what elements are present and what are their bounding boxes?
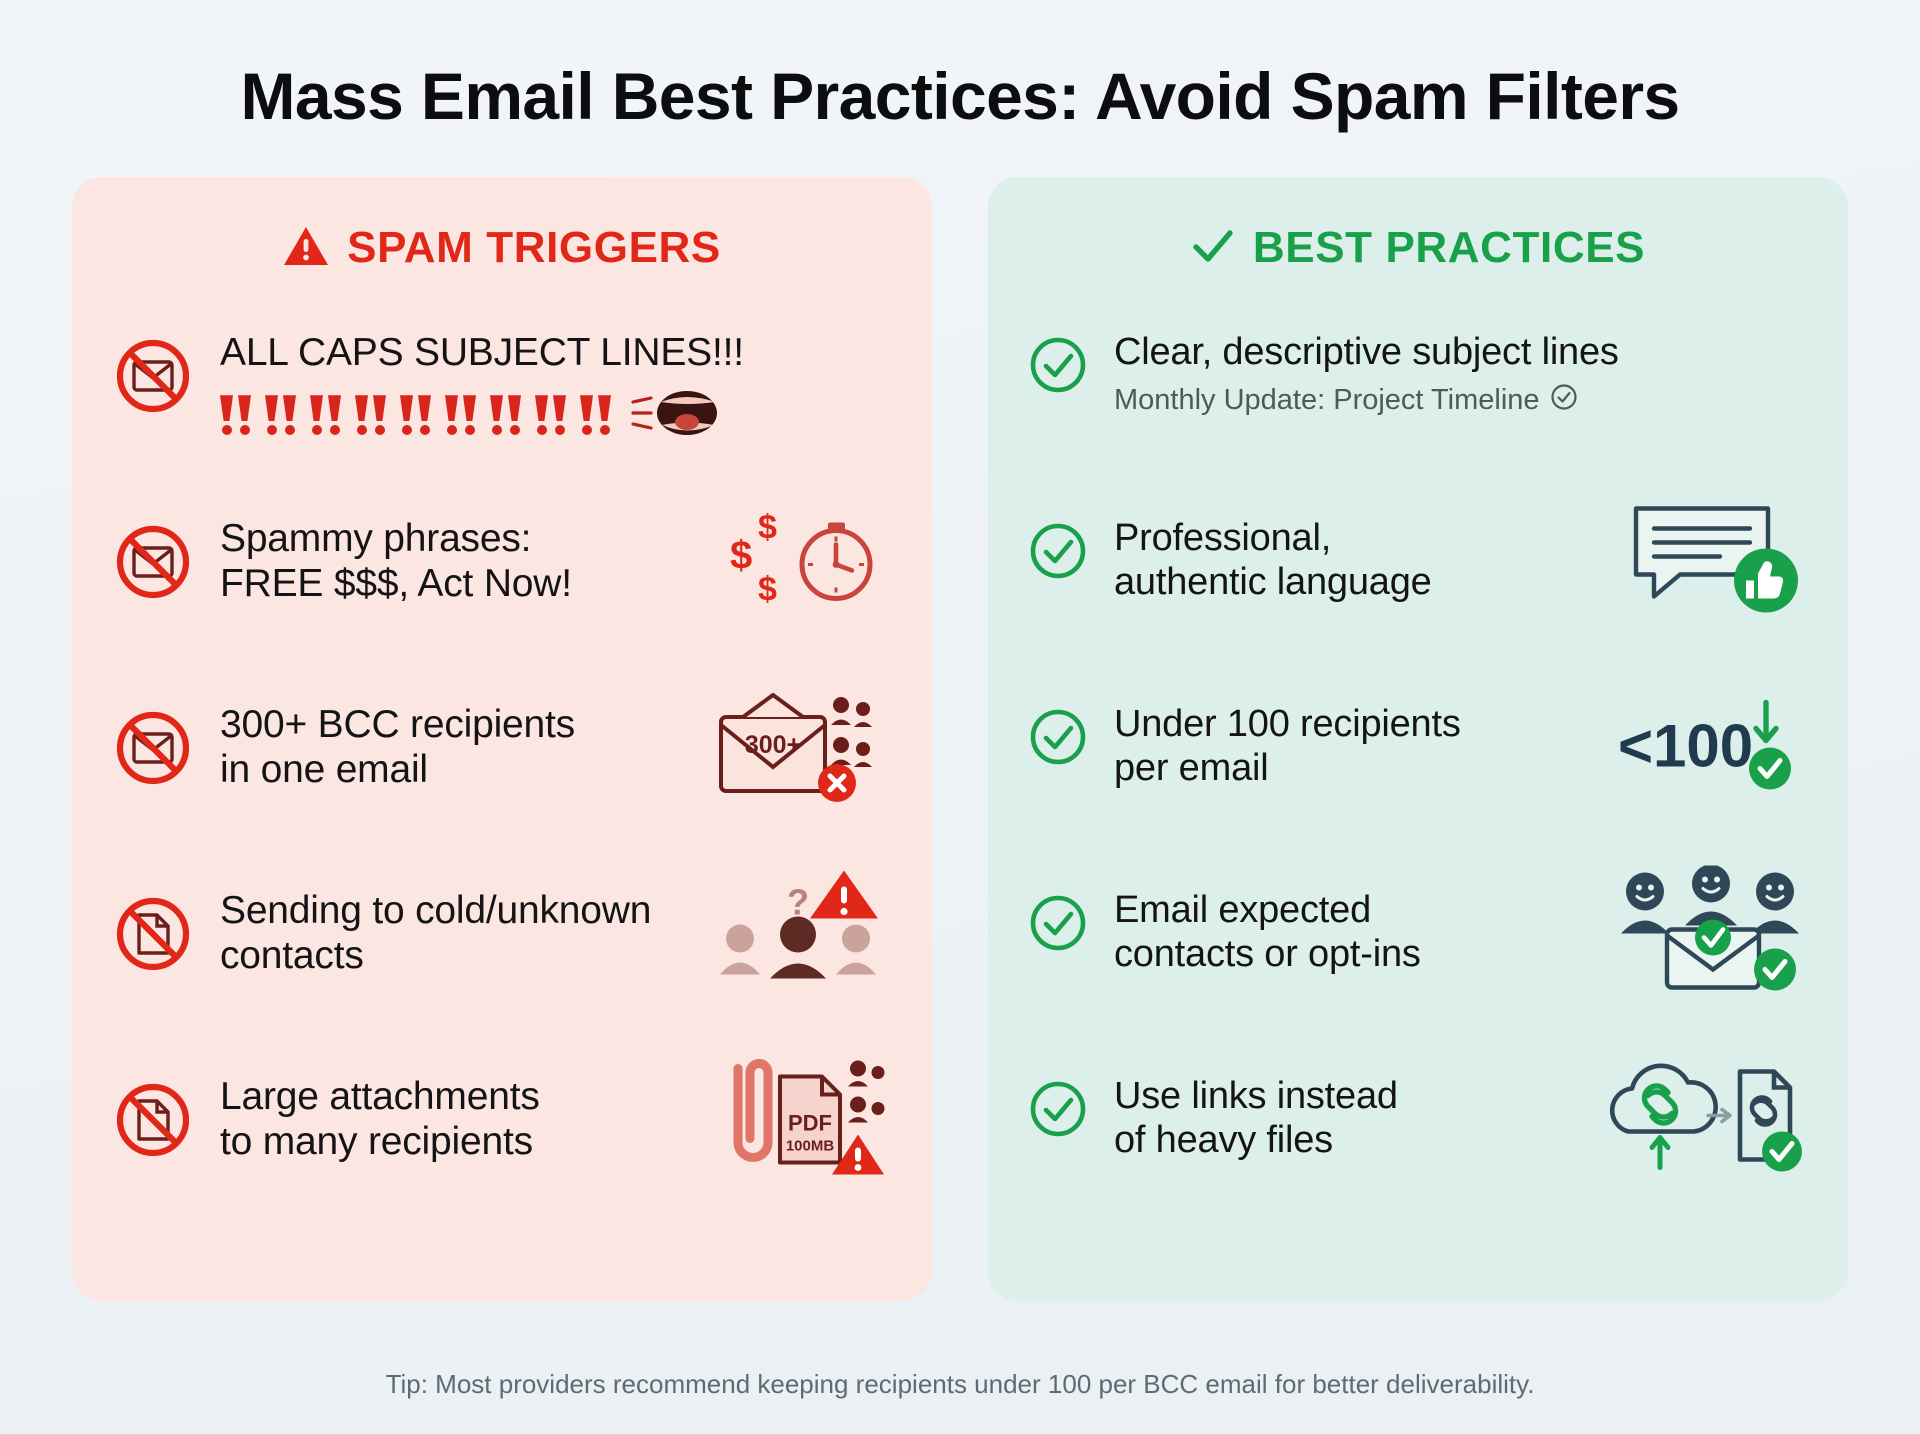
list-item-line1: Use links instead xyxy=(1114,1075,1808,1118)
list-item-line1: 300+ BCC recipients xyxy=(220,703,892,747)
spam-triggers-list: ALL CAPS SUBJECT LINES!!! xyxy=(112,331,892,1261)
list-item-line2: of heavy files xyxy=(1114,1119,1808,1162)
list-item-line1: Large attachments xyxy=(220,1075,892,1119)
list-item-text: Under 100 recipients per email <100 xyxy=(1114,703,1808,790)
check-circle-small-icon xyxy=(1550,383,1578,419)
best-practices-panel: BEST PRACTICES Clear, descriptive subjec… xyxy=(988,177,1848,1301)
check-circle-icon xyxy=(1028,1079,1088,1144)
exclamation-marks-row xyxy=(220,386,892,445)
check-circle-icon xyxy=(1028,893,1088,958)
list-item-text: Clear, descriptive subject lines Monthly… xyxy=(1114,331,1808,418)
tip-text: Tip: Most providers recommend keeping re… xyxy=(0,1369,1920,1400)
list-item: 300+ BCC recipients in one email 300+ xyxy=(112,703,892,889)
list-item-line1: Sending to cold/unknown xyxy=(220,889,892,933)
list-item-text: Sending to cold/unknown contacts ? xyxy=(220,889,892,978)
no-email-icon xyxy=(112,335,194,422)
list-item-line2: contacts or opt-ins xyxy=(1114,933,1808,976)
infographic-page: Mass Email Best Practices: Avoid Spam Fi… xyxy=(0,0,1920,1434)
list-item-line2: authentic language xyxy=(1114,561,1808,604)
list-item: Spammy phrases: FREE $$$, Act Now! $ $ $ xyxy=(112,517,892,703)
list-item: Clear, descriptive subject lines Monthly… xyxy=(1028,331,1808,517)
list-item: Email expected contacts or opt-ins xyxy=(1028,889,1808,1075)
page-title: Mass Email Best Practices: Avoid Spam Fi… xyxy=(0,0,1920,131)
spam-triggers-label: SPAM TRIGGERS xyxy=(347,223,721,273)
panels-container: SPAM TRIGGERS ALL CAPS SUBJECT LINE xyxy=(0,131,1920,1301)
list-item: Sending to cold/unknown contacts ? xyxy=(112,889,892,1075)
spam-triggers-panel: SPAM TRIGGERS ALL CAPS SUBJECT LINE xyxy=(72,177,932,1301)
list-item-line2: FREE $$$, Act Now! xyxy=(220,562,892,606)
list-item-line1: ALL CAPS SUBJECT LINES!!! xyxy=(220,331,892,375)
list-item-text: Large attachments to many recipients PDF… xyxy=(220,1075,892,1164)
no-email-icon xyxy=(112,707,194,794)
list-item-line1: Under 100 recipients xyxy=(1114,703,1808,746)
best-practices-list: Clear, descriptive subject lines Monthly… xyxy=(1028,331,1808,1261)
list-item-line1: Clear, descriptive subject lines xyxy=(1114,331,1808,374)
list-item-text: Use links instead of heavy files xyxy=(1114,1075,1808,1162)
list-item: Use links instead of heavy files xyxy=(1028,1075,1808,1261)
warning-triangle-icon xyxy=(283,225,329,272)
list-item: Large attachments to many recipients PDF… xyxy=(112,1075,892,1261)
shouting-mouth-icon xyxy=(631,386,721,445)
list-item-line2: to many recipients xyxy=(220,1120,892,1164)
list-item-text: 300+ BCC recipients in one email 300+ xyxy=(220,703,892,792)
subject-line-example-text: Monthly Update: Project Timeline xyxy=(1114,384,1540,417)
best-practices-label: BEST PRACTICES xyxy=(1253,223,1645,273)
check-circle-icon xyxy=(1028,335,1088,400)
list-item-line2: contacts xyxy=(220,934,892,978)
list-item-text: Email expected contacts or opt-ins xyxy=(1114,889,1808,976)
list-item-line2: in one email xyxy=(220,748,892,792)
subject-line-example: Monthly Update: Project Timeline xyxy=(1114,383,1808,419)
list-item: Under 100 recipients per email <100 xyxy=(1028,703,1808,889)
check-circle-icon xyxy=(1028,521,1088,586)
list-item-text: Professional, authentic language xyxy=(1114,517,1808,604)
list-item-text: Spammy phrases: FREE $$$, Act Now! $ $ $ xyxy=(220,517,892,606)
check-circle-icon xyxy=(1028,707,1088,772)
list-item: Professional, authentic language xyxy=(1028,517,1808,703)
best-practices-header: BEST PRACTICES xyxy=(1028,223,1808,273)
list-item-line1: Spammy phrases: xyxy=(220,517,892,561)
spam-triggers-header: SPAM TRIGGERS xyxy=(112,223,892,273)
list-item-line2: per email xyxy=(1114,747,1808,790)
list-item-line1: Professional, xyxy=(1114,517,1808,560)
list-item-line1: Email expected xyxy=(1114,889,1808,932)
no-document-icon xyxy=(112,893,194,980)
list-item: ALL CAPS SUBJECT LINES!!! xyxy=(112,331,892,517)
no-document-icon xyxy=(112,1079,194,1166)
check-icon xyxy=(1191,226,1235,271)
list-item-text: ALL CAPS SUBJECT LINES!!! xyxy=(220,331,892,444)
no-email-icon xyxy=(112,521,194,608)
